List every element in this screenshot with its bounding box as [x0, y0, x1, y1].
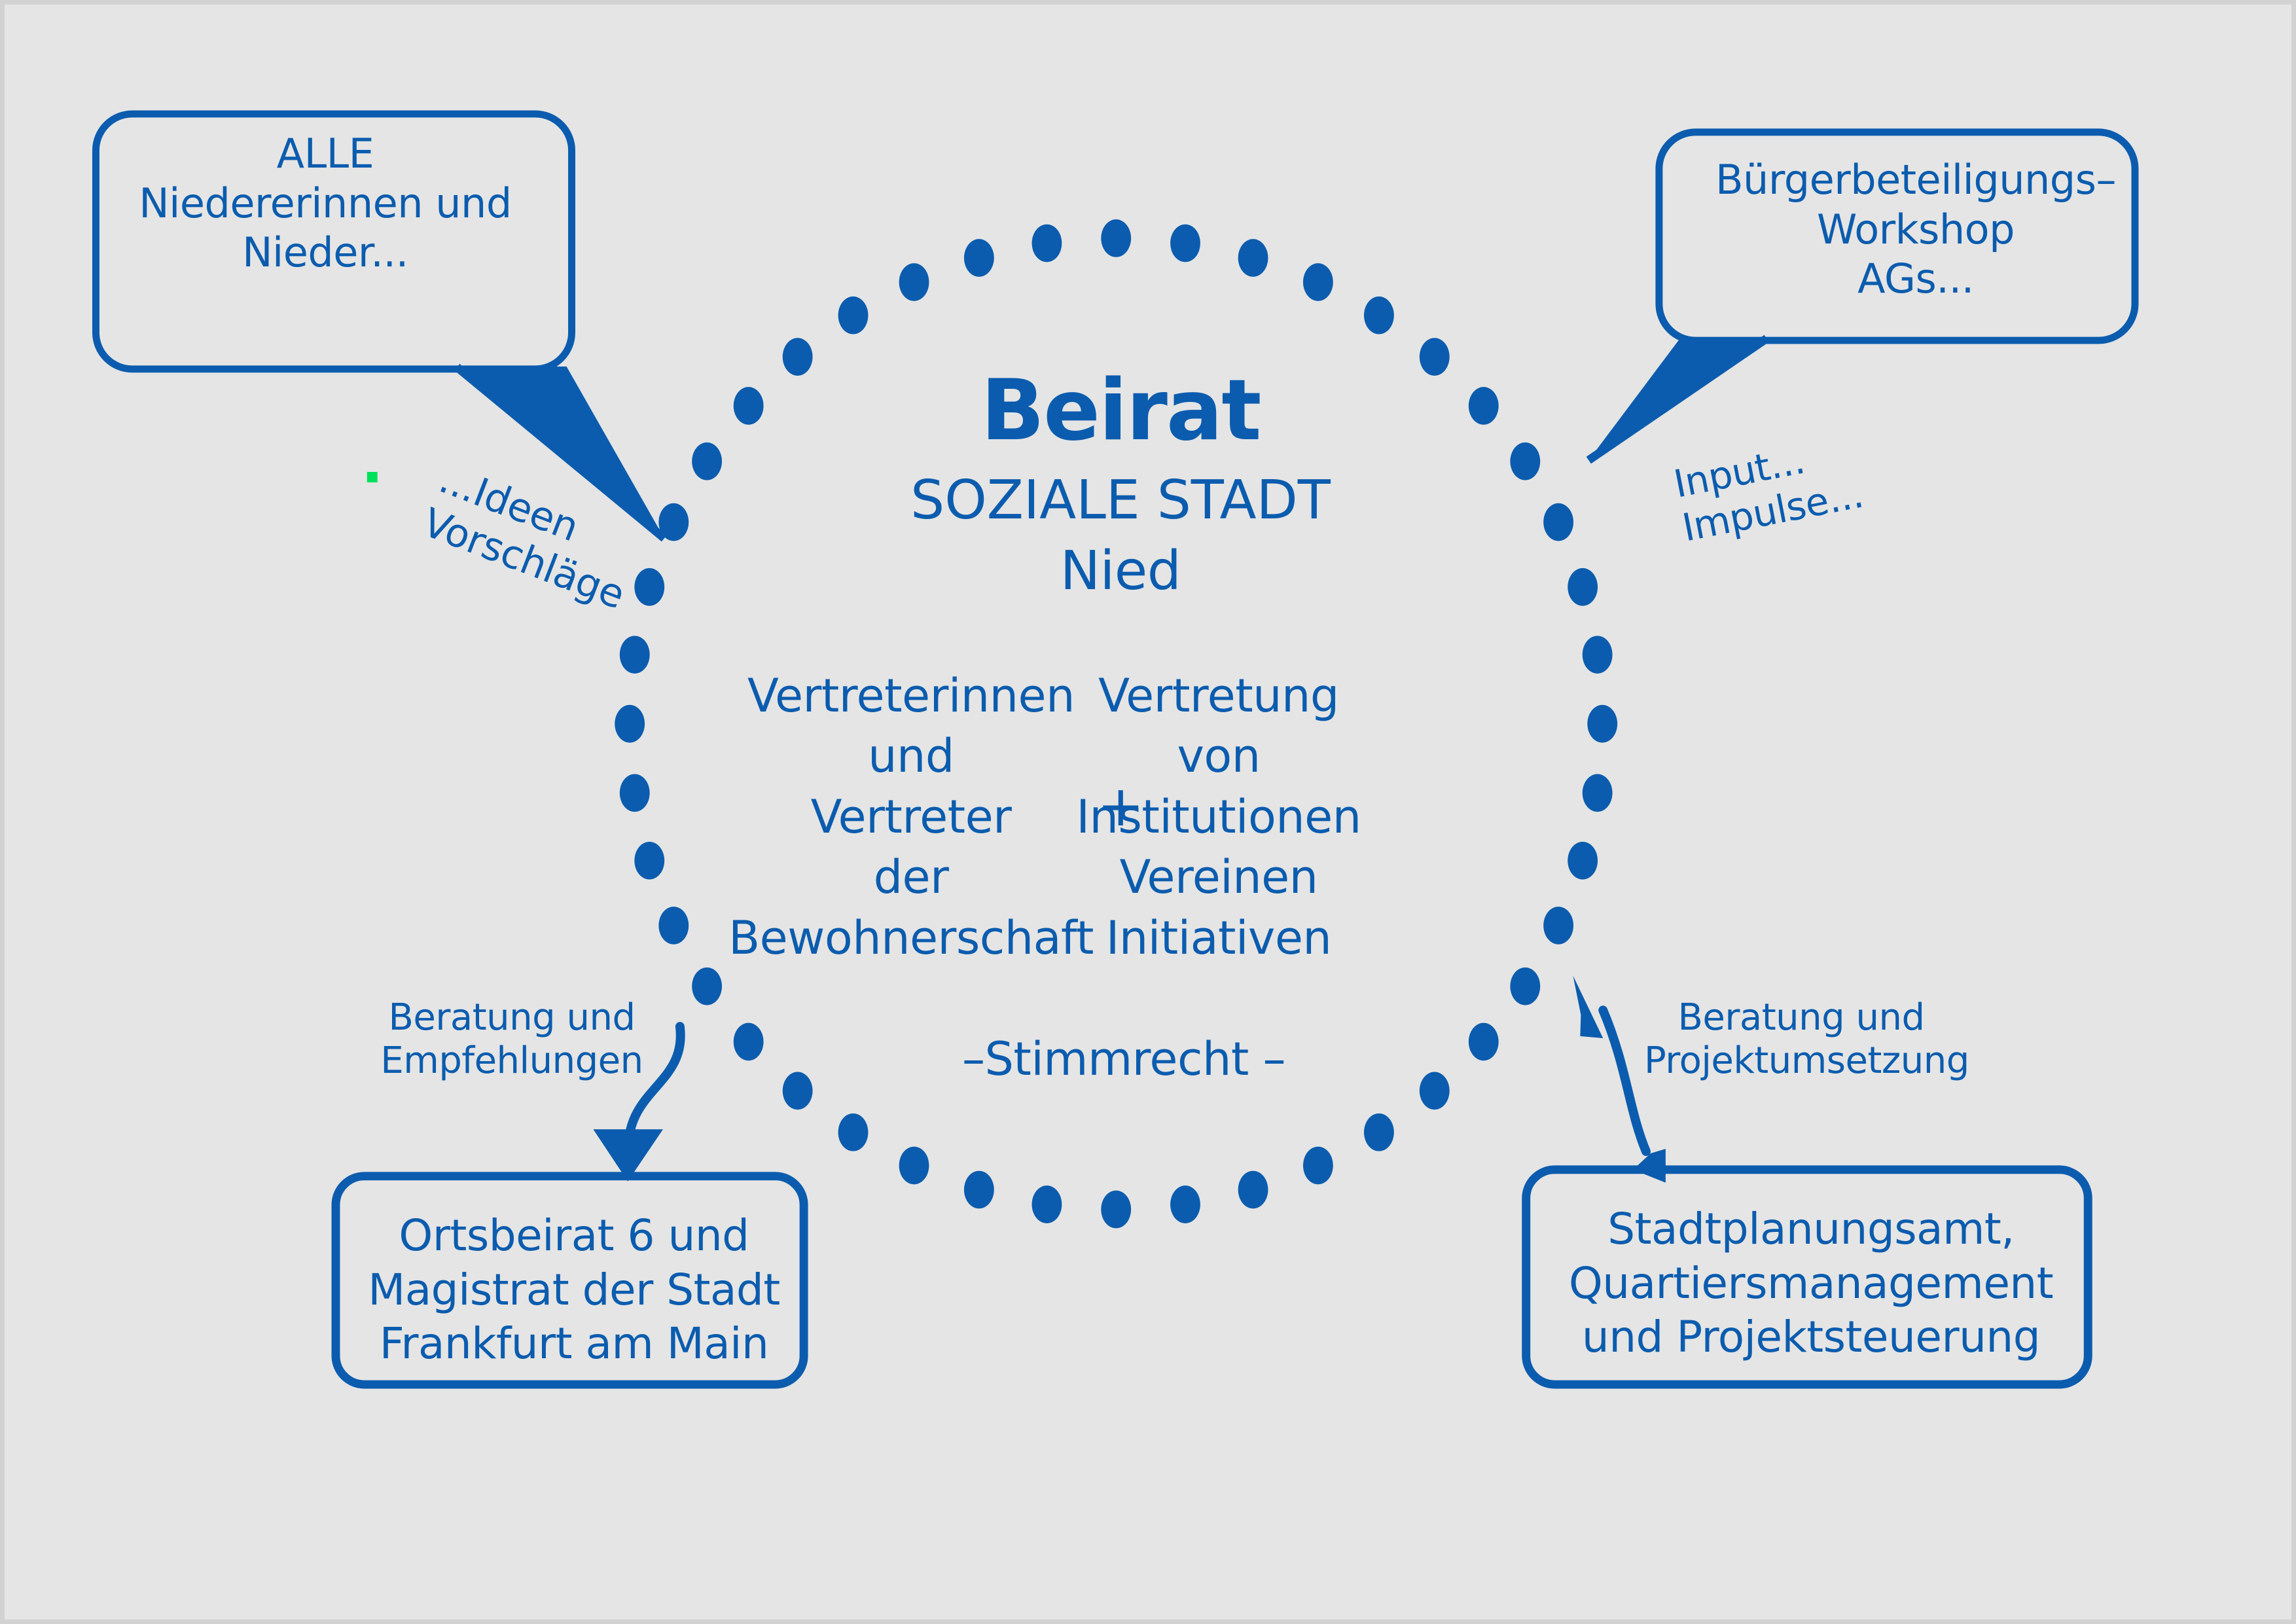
- bubble-label-buergerbeteiligung: Bürgerbeteiligungs– Workshop AGs...: [1687, 155, 2145, 304]
- bubble-label-alle-niederer: ALLE Niedererinnen und Nieder...: [96, 129, 554, 278]
- ring-dot: [1420, 1072, 1450, 1110]
- ring-dot: [1583, 774, 1613, 812]
- box-label-ortsbeirat: Ortsbeirat 6 und Magistrat der Stadt Fra…: [345, 1209, 803, 1371]
- ring-dot: [1170, 1185, 1200, 1223]
- ring-dot: [1238, 1171, 1268, 1209]
- center-title: Beirat: [833, 361, 1408, 460]
- ring-dot: [620, 636, 650, 674]
- center-column-right: Vertretung von Institutionen Vereinen In…: [1016, 666, 1422, 968]
- ring-dot: [1543, 503, 1573, 541]
- ring-dot: [1543, 907, 1573, 945]
- flow-label-beratung-empfehlungen: Beratung und Empfehlungen: [371, 996, 653, 1083]
- ring-dot: [1303, 263, 1333, 301]
- ring-dot: [1364, 1113, 1394, 1151]
- ring-dot: [783, 1072, 813, 1110]
- ring-dot: [1032, 1185, 1062, 1223]
- center-subtitle-line2: Nied: [833, 540, 1408, 604]
- ring-dot: [692, 967, 722, 1005]
- ring-dot: [1510, 967, 1540, 1005]
- ring-dot: [692, 442, 722, 480]
- ring-dot: [1238, 239, 1268, 277]
- flow-label-beratung-projektumsetzung: Beratung und Projektumsetzung: [1644, 996, 1958, 1083]
- ring-dot: [1583, 636, 1613, 674]
- ring-dot: [1032, 225, 1062, 262]
- ring-dot: [734, 1023, 764, 1061]
- ring-dot: [634, 842, 664, 880]
- ring-dot: [899, 263, 929, 301]
- ring-dot: [964, 1171, 994, 1209]
- ring-dot: [1510, 442, 1540, 480]
- ring-dot: [964, 239, 994, 277]
- ring-dot: [1303, 1147, 1333, 1185]
- ring-dot: [734, 387, 764, 425]
- ring-dot: [1587, 705, 1617, 743]
- ring-dot: [615, 705, 645, 743]
- center-footer-stimmrecht: –Stimmrecht –: [908, 1032, 1340, 1087]
- ring-dot: [1568, 568, 1598, 606]
- ring-dot: [1170, 225, 1200, 262]
- diagram-canvas: ALLE Niedererinnen und Nieder... Bürgerb…: [0, 0, 2296, 1624]
- ring-dot: [620, 774, 650, 812]
- arrow-path-right: [1603, 1010, 1646, 1151]
- ring-dot: [658, 907, 689, 945]
- ring-dot: [1568, 842, 1598, 880]
- ring-dot: [1101, 219, 1131, 257]
- ring-dot: [1469, 387, 1499, 425]
- ring-dot: [1420, 338, 1450, 376]
- box-label-stadtplanungsamt: Stadtplanungsamt, Quartiersmanagement un…: [1549, 1202, 2073, 1365]
- stray-marker-icon: [367, 472, 378, 482]
- ring-dot: [783, 338, 813, 376]
- ring-dot: [838, 297, 869, 334]
- arrow-head-right-up: [1573, 976, 1603, 1038]
- ring-dot: [838, 1113, 869, 1151]
- ring-dot: [899, 1147, 929, 1185]
- ring-dot: [1469, 1023, 1499, 1061]
- ring-dot: [1364, 297, 1394, 334]
- center-subtitle-line1: SOZIALE STADT: [833, 469, 1408, 533]
- ring-dot: [1101, 1191, 1131, 1229]
